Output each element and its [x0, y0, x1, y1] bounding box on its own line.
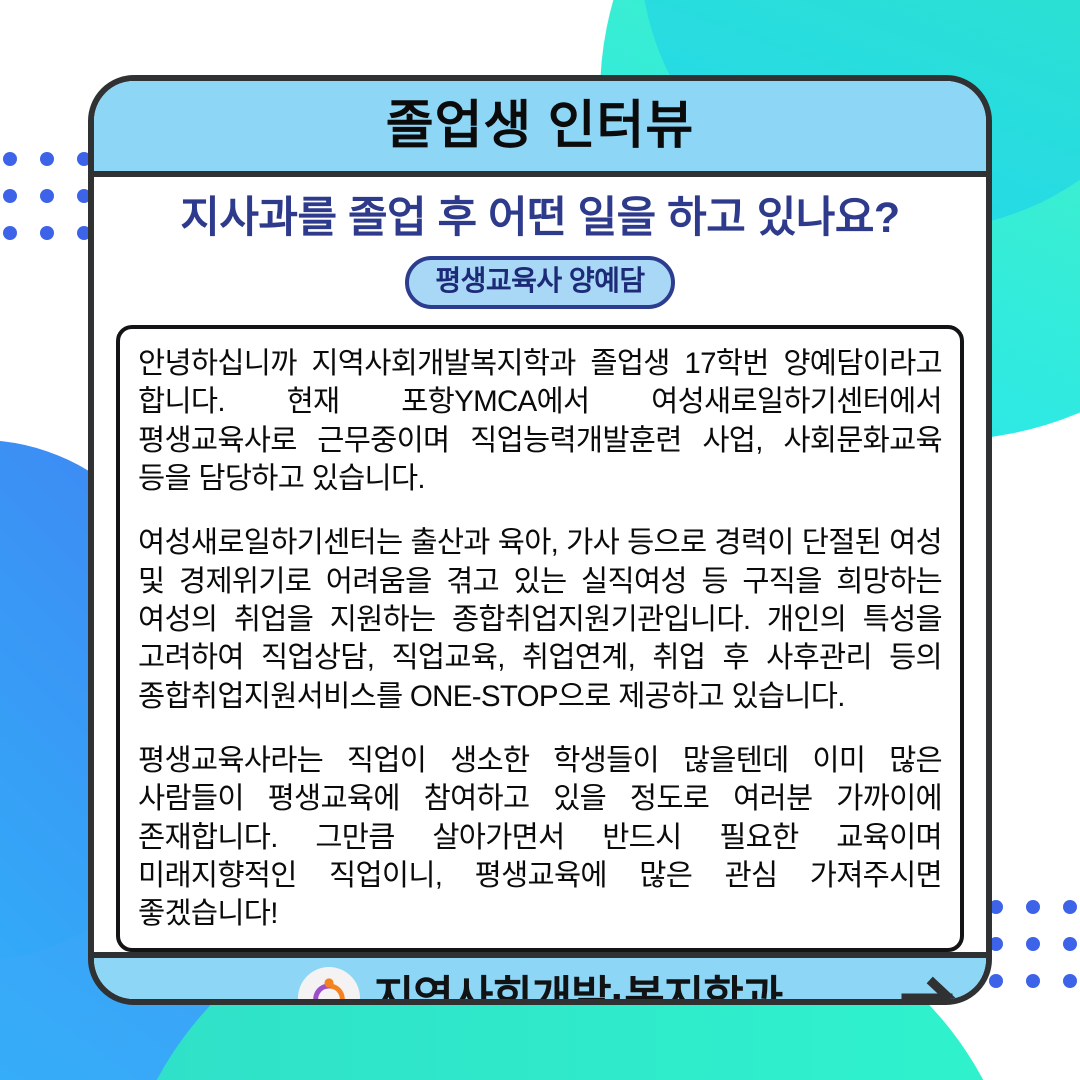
dot [40, 189, 54, 203]
card-header: 졸업생 인터뷰 [94, 81, 986, 177]
dot-grid-left [3, 152, 91, 240]
dot [989, 974, 1003, 988]
dot [1026, 900, 1040, 914]
dot [3, 189, 17, 203]
dot [40, 226, 54, 240]
interviewee-badge: 평생교육사 양예담 [405, 256, 674, 309]
answer-textbox: 안녕하십니까 지역사회개발복지학과 졸업생 17학번 양예담이라고 합니다. 현… [116, 325, 964, 952]
answer-paragraph: 안녕하십니까 지역사회개발복지학과 졸업생 17학번 양예담이라고 합니다. 현… [138, 345, 942, 498]
card-body: 지사과를 졸업 후 어떤 일을 하고 있나요? 평생교육사 양예담 안녕하십니까… [94, 177, 986, 952]
dot [3, 226, 17, 240]
answer-paragraph: 평생교육사라는 직업이 생소한 학생들이 많을텐데 이미 많은 사람들이 평생교… [138, 742, 942, 934]
dot [1063, 937, 1077, 951]
answer-paragraph: 여성새로일하기센터는 출산과 육아, 가사 등으로 경력이 단절된 여성 및 경… [138, 524, 942, 716]
department-logo-icon: Community Development Welfare [298, 967, 360, 1005]
dot [1026, 937, 1040, 951]
department-name: 지역사회개발·복지학과 [374, 976, 782, 1005]
arrow-right-icon[interactable] [900, 975, 960, 1005]
dot [3, 152, 17, 166]
dot [1063, 974, 1077, 988]
dot [40, 152, 54, 166]
dot-grid-bottom-right [989, 900, 1077, 988]
interview-card: 졸업생 인터뷰 지사과를 졸업 후 어떤 일을 하고 있나요? 평생교육사 양예… [88, 75, 992, 1005]
footer-branding: Community Development Welfare 지역사회개발·복지학… [94, 967, 986, 1005]
dot [1026, 974, 1040, 988]
dot [1063, 900, 1077, 914]
question-heading: 지사과를 졸업 후 어떤 일을 하고 있나요? [180, 195, 899, 242]
page-title: 졸업생 인터뷰 [386, 100, 695, 152]
card-footer: Community Development Welfare 지역사회개발·복지학… [94, 952, 986, 1005]
